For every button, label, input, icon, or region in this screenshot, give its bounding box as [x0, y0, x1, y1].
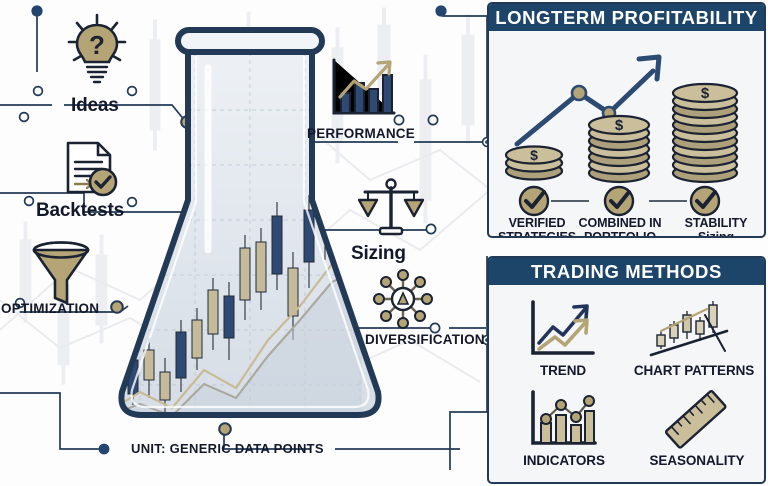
- check-label-stability-line1: STABILITY: [667, 216, 765, 230]
- panel-body-profitability: $ $: [489, 31, 764, 236]
- check-circle-icon-1: [520, 187, 548, 215]
- bar-scatter-icon: [527, 389, 599, 451]
- ruler-icon: [659, 389, 731, 451]
- node-label-optimization: OPTIMIZATION: [1, 301, 99, 316]
- flask-unit-label: UNIT: GENERIC DATA POINTS: [131, 441, 324, 456]
- check-label-verified-line1: VERIFIED: [491, 216, 583, 230]
- trend-arrows-icon: [527, 299, 597, 361]
- bar-chart-arrow-icon: [326, 55, 398, 123]
- svg-text:?: ?: [89, 30, 105, 60]
- coin-stack-1: $: [506, 147, 562, 180]
- svg-text:$: $: [615, 117, 624, 134]
- funnel-icon: [28, 240, 94, 306]
- svg-text:$: $: [701, 85, 710, 102]
- method-label-chart-patterns: CHART PATTERNS: [629, 363, 759, 378]
- panel-title-methods: TRADING METHODS: [489, 258, 764, 285]
- node-label-backtests: Backtests: [36, 200, 124, 222]
- panel-longterm-profitability: LONGTERM PROFITABILITY $: [487, 2, 766, 238]
- check-circle-icon-2: [605, 187, 633, 215]
- method-label-trend: TREND: [503, 363, 623, 378]
- check-circle-icon-3: [691, 187, 719, 215]
- check-label-stability-line2: Sizing: [667, 230, 765, 238]
- balance-scales-icon: [358, 178, 424, 242]
- check-label-combined-line1: COMBINED IN: [571, 216, 669, 230]
- infographic-canvas: ?: [0, 0, 768, 486]
- flask-rim: [178, 30, 322, 52]
- svg-text:$: $: [530, 147, 538, 163]
- panel-body-methods: TREND: [489, 285, 764, 482]
- method-label-indicators: INDICATORS: [499, 453, 629, 468]
- node-label-performance: PERFORMANCE: [307, 126, 415, 141]
- coin-stack-2: $: [589, 116, 649, 182]
- document-check-icon: [62, 140, 122, 198]
- lightbulb-question-icon: ?: [62, 12, 132, 88]
- panel-title-profitability: LONGTERM PROFITABILITY: [489, 4, 764, 31]
- node-label-diversification: DIVERSIFICATION: [365, 332, 485, 347]
- coin-stack-3: $: [673, 84, 737, 182]
- network-hub-icon: [372, 268, 434, 330]
- check-label-stability: STABILITY Sizing: [667, 216, 765, 238]
- check-label-verified: VERIFIED STRATEGIES: [491, 216, 583, 238]
- panel-trading-methods: TRADING METHODS TREND: [487, 256, 766, 484]
- coin-growth-illustration: $ $: [489, 31, 766, 237]
- candlestick-pattern-icon: [647, 297, 735, 359]
- check-label-combined: COMBINED IN PORTFOLIO: [571, 216, 669, 238]
- node-label-ideas: Ideas: [71, 95, 119, 117]
- method-label-seasonality: SEASONALITY: [631, 453, 763, 468]
- check-label-verified-line2: STRATEGIES: [491, 230, 583, 238]
- node-label-sizing: Sizing: [351, 243, 406, 265]
- check-label-combined-line2: PORTFOLIO: [571, 230, 669, 238]
